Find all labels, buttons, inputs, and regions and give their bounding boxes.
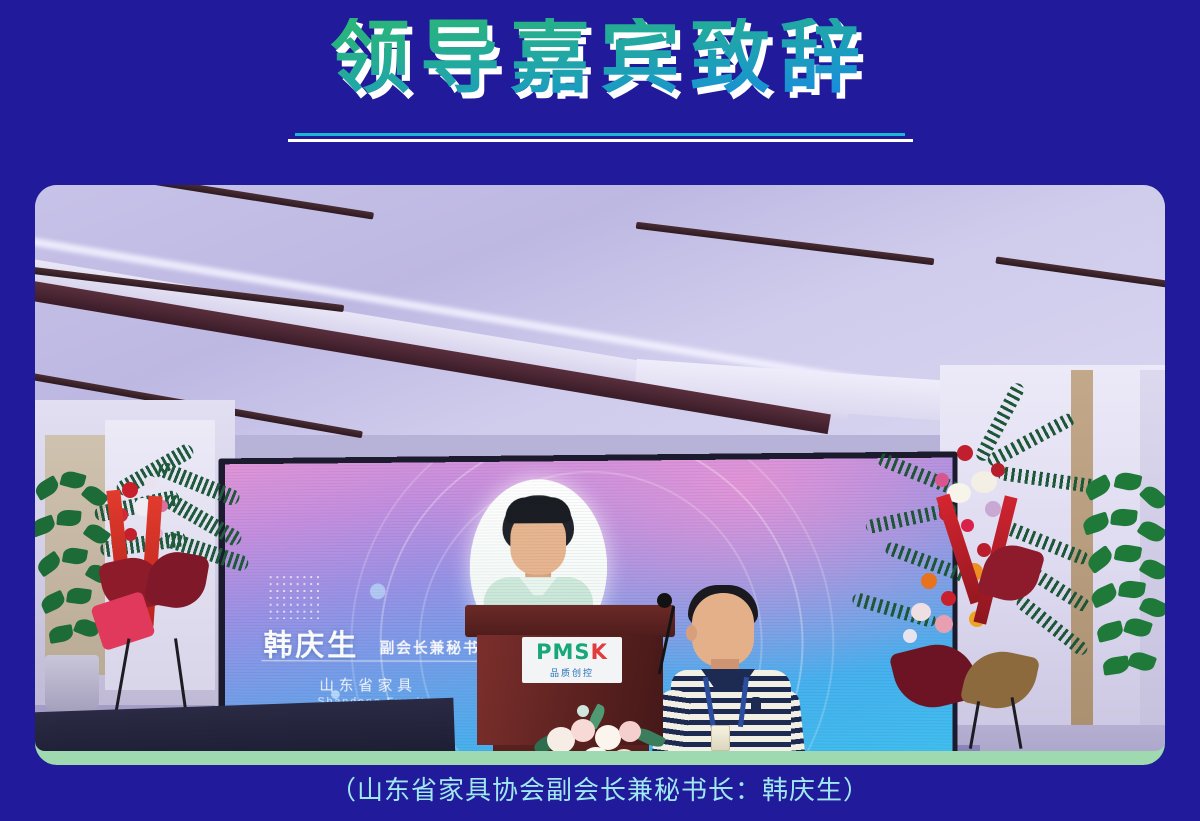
speaker-ear — [686, 625, 697, 641]
podium-logo-text: PMSK — [536, 642, 608, 663]
photo-frame: 韩庆生 副会长兼秘书长 山东省家具 Shandong Furniture — [35, 185, 1165, 765]
poster-page: 领导嘉宾致辞 领导嘉宾致辞 — [0, 0, 1200, 821]
speaker-head — [692, 593, 754, 667]
microphone-head — [657, 593, 672, 608]
led-decor-blob — [494, 507, 563, 577]
flower-stand-right — [865, 415, 1115, 745]
podium-logo-pms: PMS — [536, 640, 590, 664]
portrait-neck — [525, 567, 551, 585]
led-decor-dot-grid — [267, 574, 321, 619]
podium-top — [465, 605, 675, 637]
podium-logo: PMSK 品质创控 — [522, 637, 622, 683]
speaker-badge — [711, 725, 730, 751]
podium-flower-arrangement — [533, 705, 683, 751]
portrait-hair — [502, 495, 574, 551]
portrait-collar — [519, 577, 557, 603]
led-speaker-name: 韩庆生 — [263, 621, 359, 664]
title-underline — [0, 133, 1200, 142]
speaker-shirt-logo — [751, 697, 761, 713]
event-photo: 韩庆生 副会长兼秘书长 山东省家具 Shandong Furniture — [35, 185, 1165, 751]
title-underline-bottom — [288, 139, 913, 142]
led-decor-dot — [331, 690, 340, 699]
podium-logo-subtitle: 品质创控 — [550, 666, 594, 679]
photo-caption: （山东省家具协会副会长兼秘书长：韩庆生） — [0, 770, 1200, 807]
page-title-text: 领导嘉宾致辞 — [330, 18, 870, 98]
title-underline-top — [295, 133, 905, 136]
podium-logo-k: K — [591, 640, 608, 664]
page-title: 领导嘉宾致辞 — [0, 18, 1200, 98]
led-organization-cn: 山东省家具 — [319, 674, 416, 695]
portrait-fringe — [505, 497, 571, 523]
led-decor-dot — [370, 583, 386, 599]
flower-stand-left — [60, 440, 240, 690]
portrait-face — [510, 509, 566, 575]
potted-plant-right — [1083, 475, 1165, 705]
